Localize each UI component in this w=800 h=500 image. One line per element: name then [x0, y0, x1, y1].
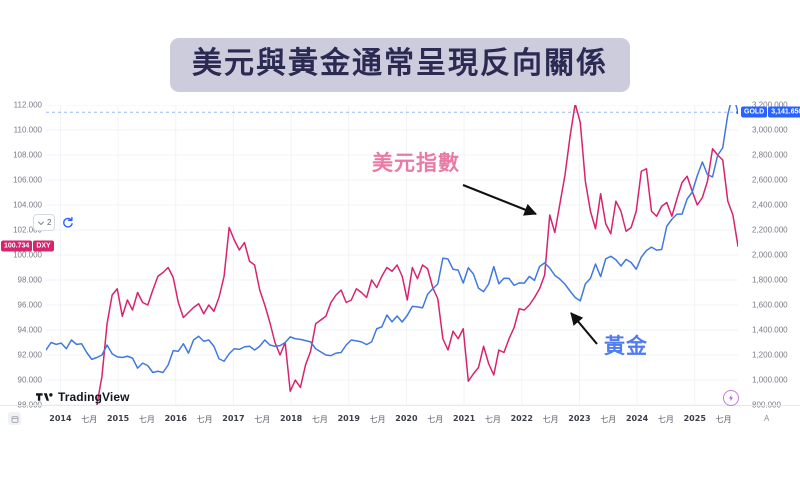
time-axis-tick: 七月	[197, 414, 213, 425]
time-axis-tick: 2014	[49, 414, 71, 423]
right-axis-tick: 2,200.000	[752, 226, 788, 235]
time-axis-tick: 七月	[370, 414, 386, 425]
time-axis-tick: 2016	[165, 414, 187, 423]
calendar-icon[interactable]	[8, 412, 21, 425]
page-title: 美元與黃金通常呈現反向關係	[170, 38, 630, 92]
time-axis-tick: 2024	[626, 414, 648, 423]
right-axis-tick: 2,000.000	[752, 251, 788, 260]
time-axis-tick: 2018	[280, 414, 302, 423]
time-axis-tick: 2020	[395, 414, 417, 423]
horizontal-gridlines	[46, 105, 738, 405]
right-axis-tick: 1,400.000	[752, 326, 788, 335]
left-axis-tick: 98.000	[18, 276, 42, 285]
time-axis-tick: 2015	[107, 414, 129, 423]
time-axis-tick: 七月	[81, 414, 97, 425]
flash-glyph-icon	[727, 394, 735, 402]
left-axis-tick: 104.000	[13, 201, 42, 210]
right-axis-tick: 2,800.000	[752, 151, 788, 160]
left-price-axis[interactable]: 112.000110.000108.000106.000104.000102.0…	[0, 105, 46, 405]
calendar-glyph-icon	[11, 415, 19, 423]
gold-line-series	[46, 105, 738, 373]
time-axis-tick: 七月	[543, 414, 559, 425]
left-axis-tick: 92.000	[18, 351, 42, 360]
time-axis-tick: 2019	[338, 414, 360, 423]
time-axis-tick: 2025	[684, 414, 706, 423]
plot-area[interactable]	[46, 105, 738, 405]
chevron-down-icon	[37, 219, 45, 227]
time-axis-tick: 七月	[139, 414, 155, 425]
auto-scale-toggle[interactable]: A	[764, 414, 769, 423]
time-axis[interactable]: 2014七月2015七月2016七月2017七月2018七月2019七月2020…	[0, 405, 800, 436]
left-axis-tick: 96.000	[18, 301, 42, 310]
left-axis-tick: 110.000	[14, 126, 42, 135]
interval-value: 2	[47, 219, 51, 227]
left-axis-tick: 90.000	[18, 376, 42, 385]
right-axis-tick: 1,800.000	[752, 276, 788, 285]
time-axis-tick: 2021	[453, 414, 475, 423]
dxy-symbol-label: DXY	[33, 240, 53, 251]
time-axis-tick: 七月	[716, 414, 732, 425]
left-axis-tick: 108.000	[13, 151, 42, 160]
time-axis-tick: 2022	[511, 414, 533, 423]
tradingview-logo-text: TradingView	[58, 390, 130, 404]
annotation-dxy-label: 美元指數	[372, 153, 460, 174]
chart-toolbar[interactable]: 2	[33, 214, 74, 231]
time-axis-tick: 七月	[658, 414, 674, 425]
time-axis-tick: 七月	[427, 414, 443, 425]
flash-badge-icon[interactable]	[723, 390, 739, 406]
gold-symbol-label: GOLD	[741, 107, 767, 118]
left-axis-tick: 100.000	[13, 251, 42, 260]
time-axis-tick: 2017	[222, 414, 244, 423]
interval-dropdown[interactable]: 2	[33, 214, 55, 231]
title-banner: 美元與黃金通常呈現反向關係	[0, 38, 800, 92]
right-axis-tick: 1,000.000	[752, 376, 788, 385]
left-axis-tick: 94.000	[18, 326, 42, 335]
dxy-price-value: 100.734	[1, 240, 32, 251]
time-axis-tick: 七月	[485, 414, 501, 425]
sync-icon[interactable]	[61, 216, 74, 229]
time-axis-tick: 七月	[600, 414, 616, 425]
time-axis-tick: 七月	[254, 414, 270, 425]
right-axis-tick: 1,200.000	[752, 351, 788, 360]
right-axis-tick: 2,600.000	[752, 176, 788, 185]
left-axis-tick: 112.000	[14, 101, 42, 110]
time-axis-tick: 七月	[312, 414, 328, 425]
left-axis-tick: 106.000	[13, 176, 42, 185]
gold-price-value: 3,141.650	[768, 107, 800, 118]
annotation-gold-label: 黃金	[604, 336, 648, 357]
dxy-price-tag: 100.734 DXY	[1, 240, 54, 251]
right-axis-tick: 1,600.000	[752, 301, 788, 310]
right-axis-tick: 3,000.000	[752, 126, 788, 135]
time-axis-tick: 2023	[568, 414, 590, 423]
right-axis-tick: 2,400.000	[752, 201, 788, 210]
right-price-axis[interactable]: 3,200.0003,000.0002,800.0002,600.0002,40…	[738, 105, 800, 405]
tradingview-logo[interactable]: TradingView	[36, 390, 130, 404]
gold-price-tag: GOLD 3,141.650	[741, 107, 800, 118]
tradingview-logo-icon	[36, 391, 53, 403]
chart-canvas	[46, 105, 738, 405]
